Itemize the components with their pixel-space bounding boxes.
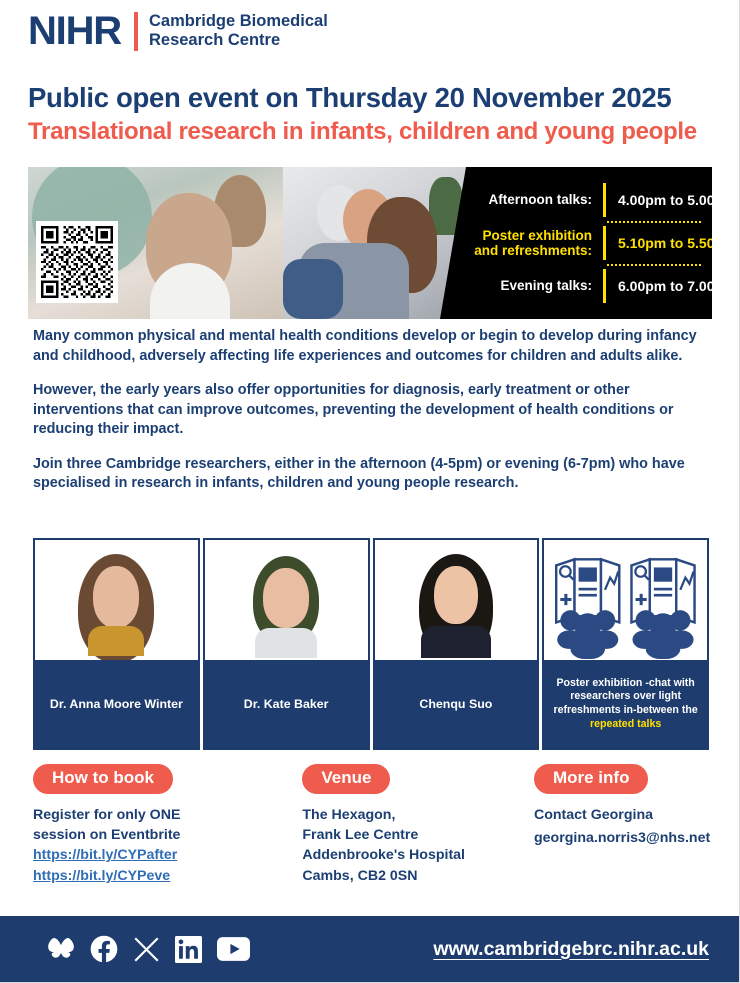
poster-exhibition-text: Poster exhibition -chat with researchers… — [544, 660, 707, 748]
logo-subtitle-line1: Cambridge Biomedical — [149, 12, 328, 31]
x-icon[interactable] — [133, 936, 160, 963]
logo-acronym: NIHR — [28, 11, 121, 51]
info-column-venue: Venue The Hexagon, Frank Lee Centre Adde… — [302, 764, 534, 887]
poster-page: NIHR Cambridge Biomedical Research Centr… — [0, 0, 740, 983]
contact-name: Contact Georgina — [534, 805, 723, 825]
page-subtitle: Translational research in infants, child… — [28, 118, 697, 146]
speaker-photo-chenqu-suo — [375, 540, 538, 660]
venue-line-1: The Hexagon, — [302, 805, 534, 825]
schedule-time-poster: 5.10pm to 5.50pm — [603, 226, 712, 260]
page-title: Public open event on Thursday 20 Novembe… — [28, 82, 671, 114]
schedule-separator-top — [464, 217, 698, 226]
book-line-2: session on Eventbrite — [33, 825, 302, 845]
poster-text-main: Poster exhibition -chat with researchers… — [554, 677, 698, 716]
social-links — [47, 935, 250, 963]
poster-text-highlight: repeated talks — [590, 718, 661, 730]
poster-exhibition-icon — [544, 540, 707, 660]
how-to-book-pill: How to book — [33, 764, 173, 794]
facebook-icon[interactable] — [90, 935, 118, 963]
venue-line-4: Cambs, CB2 0SN — [302, 866, 534, 886]
logo-subtitle: Cambridge Biomedical Research Centre — [149, 12, 328, 50]
speaker-card-2: Dr. Kate Baker — [203, 538, 370, 750]
venue-line-3: Addenbrooke's Hospital — [302, 845, 534, 865]
logo-divider — [134, 12, 138, 51]
speaker-card-3: Chenqu Suo — [373, 538, 540, 750]
venue-pill: Venue — [302, 764, 390, 794]
schedule-row-evening: Evening talks: 6.00pm to 7.00pm — [464, 269, 698, 303]
speaker-card-1: Dr. Anna Moore Winter — [33, 538, 200, 750]
info-column-more: More info Contact Georgina georgina.norr… — [534, 764, 723, 887]
speaker-name-2: Dr. Kate Baker — [205, 660, 368, 748]
logo-subtitle-line2: Research Centre — [149, 31, 328, 50]
info-columns: How to book Register for only ONE sessio… — [33, 764, 723, 887]
speaker-photo-anna-moore-winter — [35, 540, 198, 660]
body-paragraph-2: However, the early years also offer oppo… — [33, 381, 715, 440]
schedule-panel: Afternoon talks: 4.00pm to 5.00pm Poster… — [440, 167, 712, 319]
speaker-photo-kate-baker — [205, 540, 368, 660]
speaker-name-3: Chenqu Suo — [375, 660, 538, 748]
nihr-logo: NIHR Cambridge Biomedical Research Centr… — [28, 11, 328, 51]
schedule-label-poster-line2: and refreshments: — [464, 243, 592, 258]
linkedin-icon[interactable] — [175, 936, 202, 963]
poster-exhibition-card: Poster exhibition -chat with researchers… — [542, 538, 709, 750]
schedule-row-afternoon: Afternoon talks: 4.00pm to 5.00pm — [464, 183, 698, 217]
schedule-label-evening: Evening talks: — [464, 278, 603, 293]
body-paragraph-3: Join three Cambridge researchers, either… — [33, 455, 715, 494]
schedule-time-evening: 6.00pm to 7.00pm — [603, 269, 712, 303]
schedule-separator-bottom — [464, 260, 698, 269]
eventbrite-evening-link[interactable]: https://bit.ly/CYPeve — [33, 866, 302, 887]
speaker-name-1: Dr. Anna Moore Winter — [35, 660, 198, 748]
contact-email[interactable]: georgina.norris3@nhs.net — [534, 828, 723, 848]
youtube-icon[interactable] — [217, 937, 250, 961]
schedule-label-poster: Poster exhibition and refreshments: — [464, 228, 603, 259]
footer-website-link[interactable]: www.cambridgebrc.nihr.ac.uk — [433, 938, 709, 961]
schedule-label-poster-line1: Poster exhibition — [464, 228, 592, 243]
bluesky-icon[interactable] — [47, 937, 75, 962]
more-info-pill: More info — [534, 764, 649, 794]
eventbrite-afternoon-link[interactable]: https://bit.ly/CYPafter — [33, 845, 302, 866]
banner: Afternoon talks: 4.00pm to 5.00pm Poster… — [28, 167, 712, 319]
schedule-row-poster: Poster exhibition and refreshments: 5.10… — [464, 226, 698, 260]
venue-line-2: Frank Lee Centre — [302, 825, 534, 845]
info-column-book: How to book Register for only ONE sessio… — [33, 764, 302, 887]
schedule-time-afternoon: 4.00pm to 5.00pm — [603, 183, 712, 217]
body-copy: Many common physical and mental health c… — [33, 327, 715, 494]
footer: www.cambridgebrc.nihr.ac.uk — [0, 916, 739, 982]
qr-code-icon[interactable] — [36, 221, 118, 303]
book-line-1: Register for only ONE — [33, 805, 302, 825]
body-paragraph-1: Many common physical and mental health c… — [33, 327, 715, 366]
speaker-cards: Dr. Anna Moore Winter Dr. Kate Baker Che… — [33, 538, 709, 750]
schedule-label-afternoon: Afternoon talks: — [464, 192, 603, 207]
